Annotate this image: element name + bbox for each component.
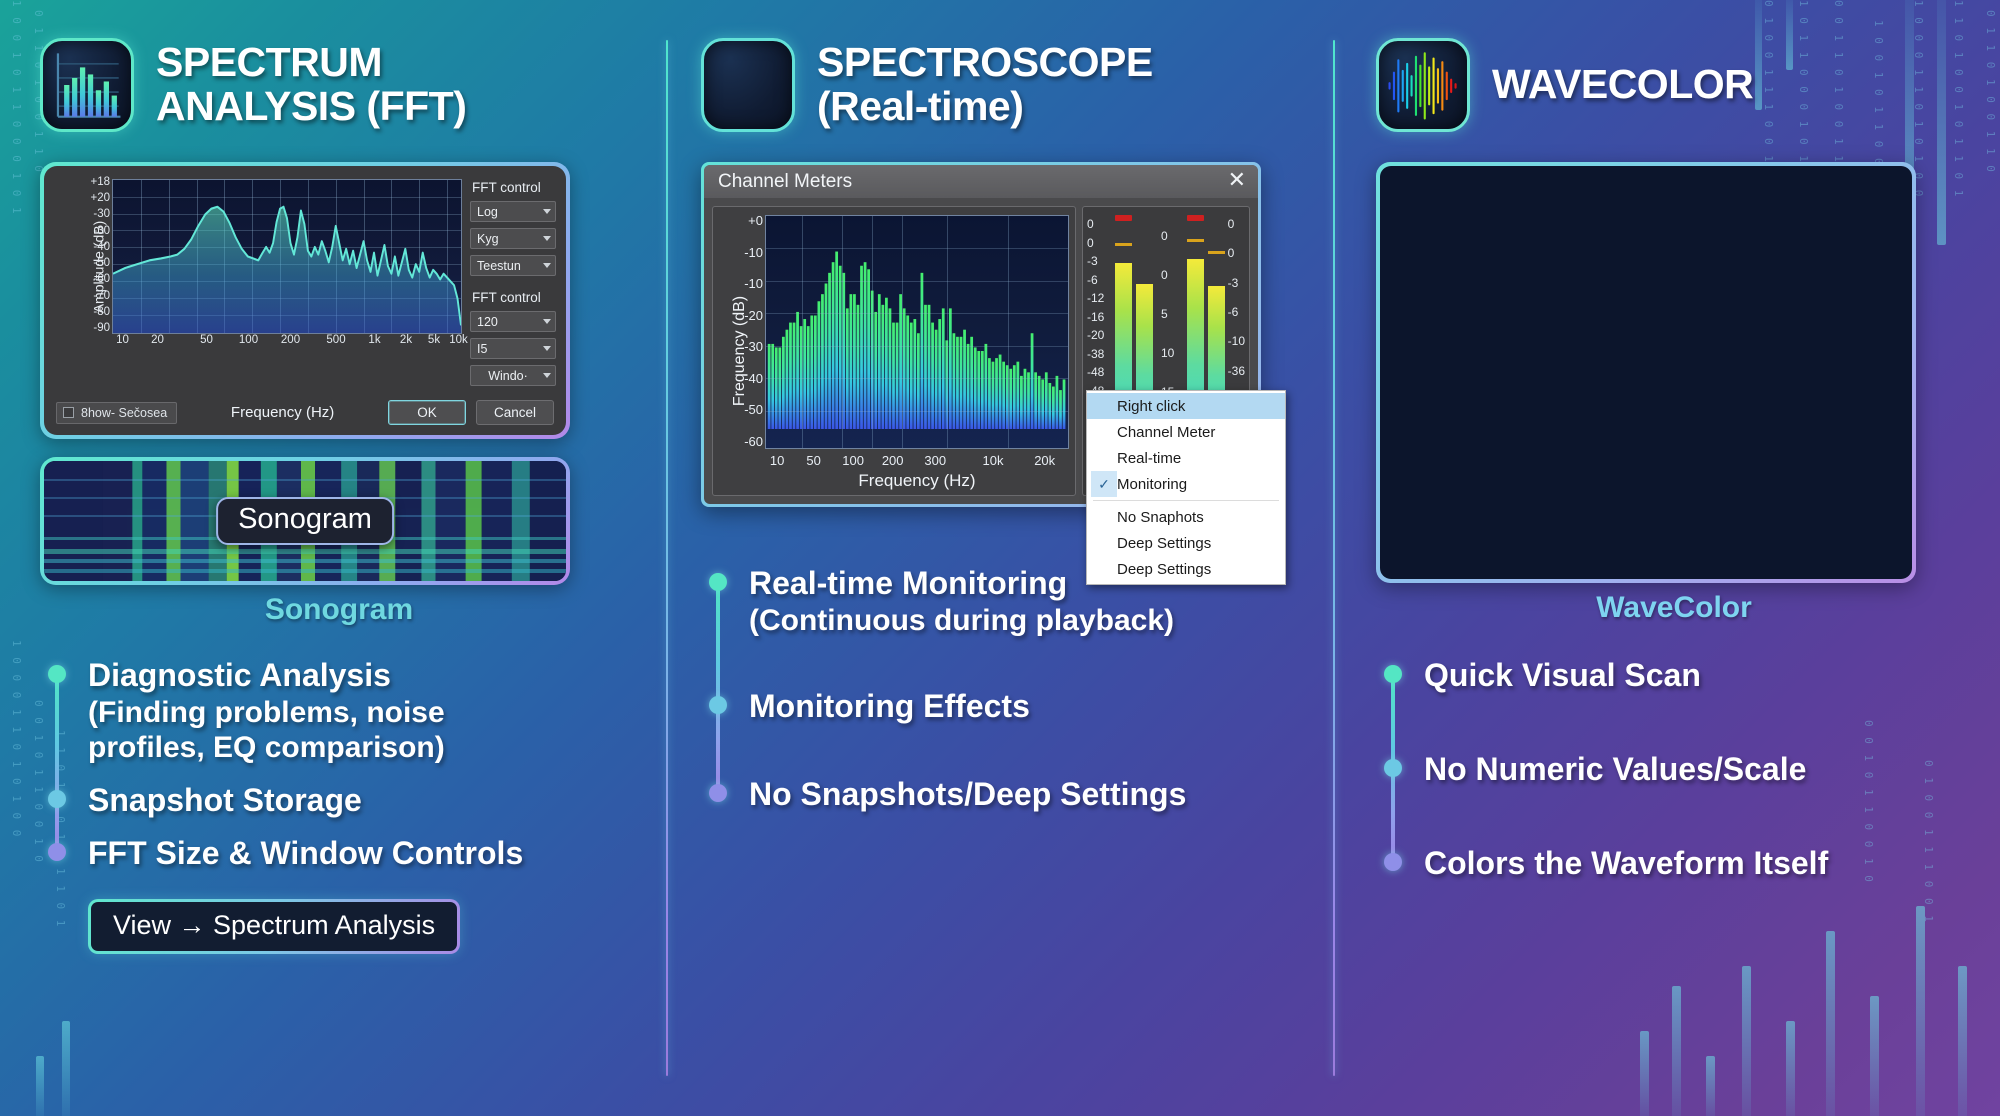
x-tick: 10k bbox=[983, 453, 1004, 468]
y-tick: -10 bbox=[744, 276, 763, 291]
x-tick: 50 bbox=[806, 453, 820, 468]
header-spectrum-analysis: SPECTRUM ANALYSIS (FFT) bbox=[40, 38, 638, 132]
list-item: Colors the Waveform Itself bbox=[1424, 845, 1972, 883]
x-tick: 50 bbox=[200, 334, 213, 346]
show-settings-checkbox[interactable]: 8how- Sečosea bbox=[56, 402, 177, 424]
y-tick: -30 bbox=[744, 339, 763, 354]
page-title: WAVECOLOR bbox=[1492, 63, 1753, 107]
scale-tick: 0 bbox=[1228, 246, 1245, 260]
scale-tick: -36 bbox=[1228, 364, 1245, 378]
fft-plot bbox=[112, 179, 462, 334]
sonogram-image: Sonogram bbox=[44, 461, 566, 581]
bullet-dot-icon bbox=[48, 843, 66, 861]
scale-tick: -38 bbox=[1087, 347, 1104, 361]
feature-text: Colors the Waveform Itself bbox=[1424, 845, 1972, 883]
menu-item-label: Right click bbox=[1117, 398, 1285, 415]
menu-item-label: Monitoring bbox=[1117, 476, 1285, 493]
scale-tick: -6 bbox=[1087, 273, 1104, 287]
scale-tick: -6 bbox=[1228, 305, 1245, 319]
y-tick: -90 bbox=[93, 322, 110, 334]
ok-button[interactable]: OK bbox=[388, 400, 466, 425]
clip-indicator-icon bbox=[1187, 215, 1204, 221]
scale-tick: -10 bbox=[1228, 334, 1245, 348]
window-title: Channel Meters bbox=[718, 171, 1226, 193]
column-wavecolor: WAVECOLOR bbox=[1334, 0, 2000, 1116]
fft-y-ticks: +18 +20 -30 -30 -40 -50 -60 -70 -80 -90 bbox=[76, 176, 110, 334]
sonogram-panel[interactable]: Sonogram bbox=[40, 457, 570, 585]
list-item: No Numeric Values/Scale bbox=[1424, 751, 1972, 789]
feature-text: Quick Visual Scan bbox=[1424, 657, 1972, 695]
feature-title: Snapshot Storage bbox=[88, 782, 362, 818]
range-value: I5 bbox=[477, 342, 539, 356]
wavecolor-waveform-svg bbox=[1380, 166, 1912, 579]
feature-title: No Snapshots/Deep Settings bbox=[749, 776, 1186, 812]
waveform-icon bbox=[701, 38, 795, 132]
x-tick: 10k bbox=[449, 334, 468, 346]
menu-item-deep-settings-1[interactable]: Deep Settings bbox=[1087, 530, 1285, 556]
x-tick: 10 bbox=[116, 334, 129, 346]
feature-title: No Numeric Values/Scale bbox=[1424, 751, 1806, 787]
menu-item-right-click[interactable]: Right click bbox=[1087, 393, 1285, 419]
feature-text: Monitoring Effects bbox=[749, 688, 1305, 726]
channel-meters-window[interactable]: Channel Meters ✕ Frequency (dB) +0 -10 -… bbox=[701, 162, 1261, 507]
sonogram-chip-label: Sonogram bbox=[216, 497, 394, 545]
chevron-down-icon bbox=[543, 373, 551, 378]
scale-tick: 0 bbox=[1161, 229, 1174, 243]
menu-item-label: Channel Meter bbox=[1117, 424, 1285, 441]
window-titlebar[interactable]: Channel Meters ✕ bbox=[704, 165, 1258, 198]
list-item: Monitoring Effects bbox=[749, 688, 1305, 726]
window-function-value: Windo· bbox=[477, 369, 539, 383]
sonogram-caption: Sonogram bbox=[40, 593, 638, 627]
bullet-dot-icon bbox=[709, 784, 727, 802]
chevron-down-icon bbox=[543, 346, 551, 351]
title-line-2: (Real-time) bbox=[817, 85, 1153, 129]
meter-scale-middle: 0 0 5 10 15 bbox=[1161, 229, 1174, 399]
scale-tick: -12 bbox=[1087, 291, 1104, 305]
y-tick: -10 bbox=[744, 245, 763, 260]
x-tick: 100 bbox=[842, 453, 864, 468]
rainbow-waveform-icon bbox=[1376, 38, 1470, 132]
y-tick: -40 bbox=[744, 371, 763, 386]
three-column-layout: SPECTRUM ANALYSIS (FFT) Amplitude (dB) +… bbox=[0, 0, 2000, 1116]
bullet-dot-icon bbox=[709, 573, 727, 591]
header-wavecolor: WAVECOLOR bbox=[1376, 38, 1972, 132]
menu-item-label: No Snaphots bbox=[1117, 509, 1285, 526]
cm-x-axis-label: Frequency (Hz) bbox=[765, 471, 1069, 491]
scale-tick: 5 bbox=[1161, 307, 1174, 321]
list-item: FFT Size & Window Controls bbox=[88, 835, 638, 873]
bullet-dot-icon bbox=[1384, 759, 1402, 777]
cm-grid bbox=[766, 216, 1068, 448]
menu-item-deep-settings-2[interactable]: Deep Settings bbox=[1087, 556, 1285, 582]
list-item: Quick Visual Scan bbox=[1424, 657, 1972, 695]
scale-tick: 0 bbox=[1161, 268, 1174, 282]
bullet-dot-icon bbox=[48, 665, 66, 683]
header-spectroscope: SPECTROSCOPE (Real-time) bbox=[701, 38, 1305, 132]
preset-select[interactable]: Teestun bbox=[470, 255, 556, 276]
y-tick: -70 bbox=[93, 290, 110, 302]
y-tick: -60 bbox=[93, 273, 110, 285]
chevron-down-icon bbox=[543, 263, 551, 268]
y-tick: +20 bbox=[90, 192, 110, 204]
close-icon[interactable]: ✕ bbox=[1226, 169, 1248, 194]
x-tick: 5k bbox=[428, 334, 440, 346]
scale-tick: 0 bbox=[1087, 217, 1104, 231]
fft-control-panel: FFT control Log Kyg Teestun bbox=[470, 176, 556, 392]
x-tick: 2k bbox=[400, 334, 412, 346]
feature-title: Quick Visual Scan bbox=[1424, 657, 1701, 693]
menu-separator bbox=[1093, 500, 1279, 501]
menu-item-real-time[interactable]: Real-time bbox=[1087, 445, 1285, 471]
cm-y-ticks: +0 -10 -10 -20 -30 -40 -50 -60 bbox=[727, 213, 763, 449]
channel-value: Kyg bbox=[477, 232, 539, 246]
title-line-1: WAVECOLOR bbox=[1492, 61, 1753, 107]
scale-tick: -16 bbox=[1087, 310, 1104, 324]
x-tick: 200 bbox=[281, 334, 300, 346]
fft-plot-wrapper: Amplitude (dB) +18 +20 -30 -30 -40 -50 -… bbox=[54, 176, 462, 358]
list-item: No Snapshots/Deep Settings bbox=[749, 776, 1305, 814]
y-tick: -30 bbox=[93, 208, 110, 220]
bullet-dot-icon bbox=[48, 790, 66, 808]
feature-title: FFT Size & Window Controls bbox=[88, 835, 523, 871]
y-tick: +18 bbox=[90, 176, 110, 188]
x-tick: 20k bbox=[1034, 453, 1055, 468]
x-tick: 100 bbox=[239, 334, 258, 346]
feature-title: Diagnostic Analysis bbox=[88, 657, 391, 693]
page-title: SPECTRUM ANALYSIS (FFT) bbox=[156, 41, 466, 129]
x-tick: 500 bbox=[326, 334, 345, 346]
x-tick: 200 bbox=[882, 453, 904, 468]
bullet-dot-icon bbox=[709, 696, 727, 714]
fft-x-ticks: 10 20 50 100 200 500 1k 2k 5k 10k bbox=[112, 334, 462, 350]
page-title: SPECTROSCOPE (Real-time) bbox=[817, 41, 1153, 129]
fft-chart-area: Amplitude (dB) +18 +20 -30 -30 -40 -50 -… bbox=[44, 166, 566, 398]
column-spectrum-analysis: SPECTRUM ANALYSIS (FFT) Amplitude (dB) +… bbox=[0, 0, 666, 1116]
timeline-spine bbox=[55, 673, 59, 851]
list-item: Snapshot Storage bbox=[88, 782, 638, 820]
fft-dialog-body: Amplitude (dB) +18 +20 -30 -30 -40 -50 -… bbox=[44, 166, 566, 435]
fft-control-heading-2: FFT control bbox=[472, 290, 556, 305]
menu-item-label: Real-time bbox=[1117, 450, 1285, 467]
title-line-2: ANALYSIS (FFT) bbox=[156, 85, 466, 129]
check-icon: ✓ bbox=[1091, 471, 1117, 497]
scale-tick: -3 bbox=[1228, 276, 1245, 290]
feature-title: Real-time Monitoring bbox=[749, 565, 1067, 601]
y-tick: -50 bbox=[93, 257, 110, 269]
wavecolor-caption: WaveColor bbox=[1376, 591, 1972, 625]
scale-tick: 0 bbox=[1228, 217, 1245, 231]
feature-text: No Numeric Values/Scale bbox=[1424, 751, 1972, 789]
feature-text: Diagnostic Analysis (Finding problems, n… bbox=[88, 657, 638, 766]
channel-select[interactable]: Kyg bbox=[470, 228, 556, 249]
context-menu[interactable]: Right click Channel Meter Real-time ✓ Mo… bbox=[1086, 390, 1286, 585]
clip-indicator-icon bbox=[1115, 215, 1132, 221]
y-tick: -60 bbox=[744, 434, 763, 449]
x-tick: 1k bbox=[368, 334, 380, 346]
y-tick: +0 bbox=[748, 213, 763, 228]
title-line-1: SPECTROSCOPE bbox=[817, 39, 1153, 85]
x-tick: 300 bbox=[924, 453, 946, 468]
feature-text: No Snapshots/Deep Settings bbox=[749, 776, 1305, 814]
range-select[interactable]: I5 bbox=[470, 338, 556, 359]
chevron-down-icon bbox=[543, 319, 551, 324]
window-function-select[interactable]: Windo· bbox=[470, 365, 556, 386]
cancel-button[interactable]: Cancel bbox=[476, 400, 554, 425]
y-tick: -40 bbox=[93, 241, 110, 253]
y-tick: -80 bbox=[93, 306, 110, 318]
column-spectroscope: SPECTROSCOPE (Real-time) Channel Meters … bbox=[667, 0, 1333, 1116]
menu-item-no-snaphots[interactable]: No Snaphots bbox=[1087, 504, 1285, 530]
chevron-down-icon bbox=[543, 209, 551, 214]
feature-list-spectrum: Diagnostic Analysis (Finding problems, n… bbox=[40, 657, 638, 873]
feature-text: FFT Size & Window Controls bbox=[88, 835, 638, 873]
scale-tick: -48 bbox=[1087, 365, 1104, 379]
preset-value: Teestun bbox=[477, 259, 539, 273]
timeline-spine bbox=[716, 581, 720, 792]
fft-control-heading-1: FFT control bbox=[472, 180, 556, 195]
x-tick: 20 bbox=[151, 334, 164, 346]
scale-tick: 10 bbox=[1161, 346, 1174, 360]
feature-list-spectroscope: Real-time Monitoring (Continuous during … bbox=[701, 565, 1305, 814]
scale-tick: 0 bbox=[1087, 236, 1104, 250]
title-line-1: SPECTRUM bbox=[156, 39, 382, 85]
scale-tick: -20 bbox=[1087, 328, 1104, 342]
y-tick: -20 bbox=[744, 308, 763, 323]
menu-item-label: Deep Settings bbox=[1117, 535, 1285, 552]
feature-title: Monitoring Effects bbox=[749, 688, 1030, 724]
scale-tick: -3 bbox=[1087, 254, 1104, 268]
bar-chart-icon bbox=[40, 38, 134, 132]
feature-note: (Finding problems, noise profiles, EQ co… bbox=[88, 695, 638, 766]
menu-item-label: Deep Settings bbox=[1117, 561, 1285, 578]
feature-note: (Continuous during playback) bbox=[749, 603, 1305, 638]
fft-size-select[interactable]: 120 bbox=[470, 311, 556, 332]
cm-x-ticks: 10 50 100 200 300 10k 20k bbox=[765, 453, 1069, 469]
y-tick: -30 bbox=[93, 225, 110, 237]
feature-list-wavecolor: Quick Visual Scan No Numeric Values/Scal… bbox=[1376, 657, 1972, 882]
x-tick: 10 bbox=[770, 453, 784, 468]
bullet-dot-icon bbox=[1384, 853, 1402, 871]
list-item: Diagnostic Analysis (Finding problems, n… bbox=[88, 657, 638, 766]
feature-title: Colors the Waveform Itself bbox=[1424, 845, 1828, 881]
chevron-down-icon bbox=[543, 236, 551, 241]
feature-text: Snapshot Storage bbox=[88, 782, 638, 820]
view-spectrum-analysis-button[interactable]: View → Spectrum Analysis bbox=[88, 899, 460, 954]
wavecolor-panel[interactable] bbox=[1376, 162, 1916, 583]
spectroscope-plot bbox=[765, 215, 1069, 449]
fft-curve bbox=[113, 180, 461, 333]
fft-dialog[interactable]: Amplitude (dB) +18 +20 -30 -30 -40 -50 -… bbox=[40, 162, 570, 439]
fft-x-axis-label: Frequency (Hz) bbox=[187, 404, 378, 421]
checkbox-box-icon bbox=[63, 407, 74, 418]
wavecolor-waveform bbox=[1380, 166, 1912, 579]
checkbox-label: 8how- Sečosea bbox=[81, 406, 167, 420]
scale-mode-value: Log bbox=[477, 205, 539, 219]
menu-item-channel-meter[interactable]: Channel Meter bbox=[1087, 419, 1285, 445]
menu-item-monitoring[interactable]: ✓ Monitoring bbox=[1087, 471, 1285, 497]
spectroscope-plot-wrapper: Frequency (dB) +0 -10 -10 -20 -30 -40 -5… bbox=[712, 206, 1076, 496]
bullet-dot-icon bbox=[1384, 665, 1402, 683]
fft-dialog-footer: 8how- Sečosea Frequency (Hz) OK Cancel bbox=[44, 398, 566, 435]
scale-mode-select[interactable]: Log bbox=[470, 201, 556, 222]
fft-size-value: 120 bbox=[477, 315, 539, 329]
y-tick: -50 bbox=[744, 402, 763, 417]
meter-scale-right: 0 0 -3 -6 -10 -36 -20 bbox=[1228, 217, 1245, 407]
